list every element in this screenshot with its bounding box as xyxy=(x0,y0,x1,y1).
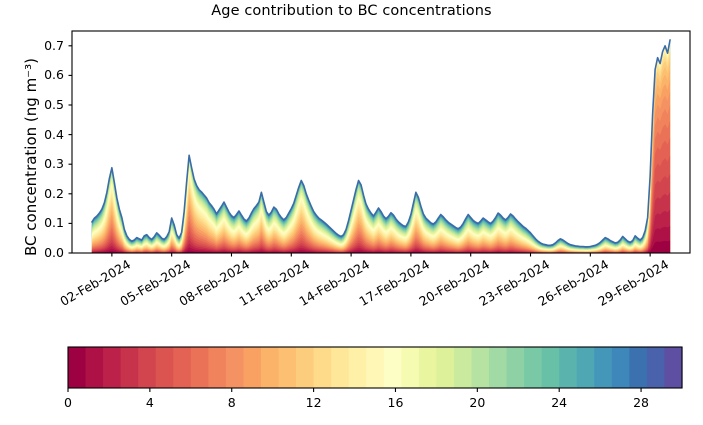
colorbar-band-29 xyxy=(577,347,595,388)
colorbar-band-17 xyxy=(366,347,384,388)
colorbar-band-34 xyxy=(664,347,682,388)
colorbar-band-0 xyxy=(68,347,86,388)
colorbar-band-13 xyxy=(296,347,314,388)
colorbar xyxy=(68,347,683,392)
colorbar-band-14 xyxy=(314,347,332,388)
colorbar-band-26 xyxy=(524,347,542,388)
colorbar-band-11 xyxy=(261,347,279,388)
colorbar-band-30 xyxy=(594,347,612,388)
colorbar-band-2 xyxy=(103,347,121,388)
colorbar-band-10 xyxy=(243,347,261,388)
colorbar-band-24 xyxy=(489,347,507,388)
colorbar-band-33 xyxy=(647,347,665,388)
colorbar-band-15 xyxy=(331,347,349,388)
colorbar-band-32 xyxy=(629,347,647,388)
colorbar-band-21 xyxy=(436,347,454,388)
colorbar-band-18 xyxy=(384,347,402,388)
colorbar-band-3 xyxy=(121,347,139,388)
colorbar-band-8 xyxy=(208,347,226,388)
colorbar-band-22 xyxy=(454,347,472,388)
colorbar-band-6 xyxy=(173,347,191,388)
colorbar-band-19 xyxy=(401,347,419,388)
colorbar-band-7 xyxy=(191,347,209,388)
colorbar-band-1 xyxy=(86,347,104,388)
colorbar-band-16 xyxy=(349,347,367,388)
plot-canvas xyxy=(0,0,703,425)
colorbar-band-12 xyxy=(279,347,297,388)
colorbar-band-23 xyxy=(471,347,489,388)
colorbar-band-25 xyxy=(507,347,525,388)
colorbar-band-9 xyxy=(226,347,244,388)
colorbar-band-31 xyxy=(612,347,630,388)
colorbar-band-27 xyxy=(542,347,560,388)
colorbar-band-20 xyxy=(419,347,437,388)
colorbar-band-5 xyxy=(156,347,174,388)
figure-root: Age contribution to BC concentrations BC… xyxy=(0,0,703,425)
stacked-area-series xyxy=(92,40,670,253)
colorbar-band-28 xyxy=(559,347,577,388)
area-band-22 xyxy=(92,40,670,253)
colorbar-band-4 xyxy=(138,347,156,388)
